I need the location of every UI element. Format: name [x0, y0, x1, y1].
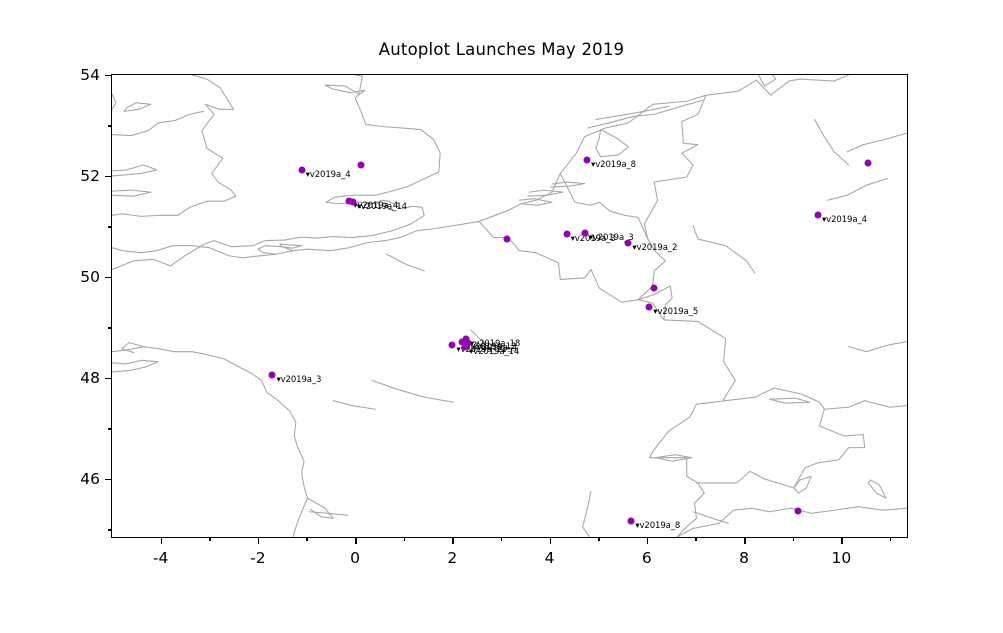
data-point-label: ▾v2019a_14: [357, 202, 407, 212]
x-axis-tick: [258, 537, 259, 544]
data-point-label: ▾v2019a_5: [653, 307, 698, 317]
y-axis-tick: [105, 75, 112, 76]
data-point[interactable]: [581, 229, 588, 236]
figure-canvas: Autoplot Launches May 2019: [0, 0, 1003, 633]
x-axis-minor-tick: [501, 537, 502, 541]
y-axis-tick: [105, 176, 112, 177]
x-axis-tick: [161, 537, 162, 544]
map-clip: ▾v2019a_4▾v2019a_4▾v2019a_14▾v2019a_8▾v2…: [112, 75, 907, 537]
x-axis-tick-label: 10: [831, 549, 851, 567]
plot-axes: ▾v2019a_4▾v2019a_4▾v2019a_14▾v2019a_8▾v2…: [111, 74, 908, 538]
x-axis-minor-tick: [695, 537, 696, 541]
data-point[interactable]: [462, 343, 469, 350]
x-axis-tick-label: 4: [545, 549, 555, 567]
x-axis-minor-tick: [598, 537, 599, 541]
x-axis-minor-tick: [793, 537, 794, 541]
y-axis-tick-label: 46: [80, 470, 100, 488]
data-point[interactable]: [563, 231, 570, 238]
data-point[interactable]: [651, 285, 658, 292]
x-axis-tick: [744, 537, 745, 544]
x-axis-tick-label: 8: [739, 549, 749, 567]
data-point-label: ▾v2019a_4: [306, 170, 351, 180]
y-axis-tick: [105, 479, 112, 480]
y-axis-minor-tick: [108, 428, 112, 429]
data-point[interactable]: [269, 372, 276, 379]
data-point-label: ▾v2019a_14: [469, 347, 519, 357]
data-point[interactable]: [865, 160, 872, 167]
y-axis-tick-label: 54: [80, 66, 100, 84]
x-axis-tick-label: -4: [153, 549, 168, 567]
data-point[interactable]: [358, 162, 365, 169]
data-point-label: ▾v2019a_3: [276, 375, 321, 385]
data-point[interactable]: [625, 239, 632, 246]
data-point[interactable]: [349, 199, 356, 206]
map-geometry: [112, 75, 907, 537]
x-axis-minor-tick: [209, 537, 210, 541]
data-point[interactable]: [584, 157, 591, 164]
x-axis-tick-label: 6: [642, 549, 652, 567]
x-axis-tick: [355, 537, 356, 544]
y-axis-tick-label: 48: [80, 369, 100, 387]
x-axis-tick: [452, 537, 453, 544]
y-axis-tick: [105, 378, 112, 379]
y-axis-minor-tick: [108, 327, 112, 328]
data-point-label: ▾v2019a_8: [591, 160, 636, 170]
data-point[interactable]: [628, 518, 635, 525]
data-point[interactable]: [298, 166, 305, 173]
data-point[interactable]: [794, 507, 801, 514]
data-point-label: ▾v2019a_2: [632, 243, 677, 253]
data-point-label: ▾v2019a_8: [635, 521, 680, 531]
data-point-label: ▾v2019a_4: [822, 215, 867, 225]
x-axis-tick-label: -2: [250, 549, 265, 567]
data-point[interactable]: [646, 304, 653, 311]
x-axis-tick-label: 2: [447, 549, 457, 567]
x-axis-tick: [647, 537, 648, 544]
y-axis-minor-tick: [108, 125, 112, 126]
data-point[interactable]: [449, 341, 456, 348]
y-axis-tick-label: 52: [80, 167, 100, 185]
y-axis-minor-tick: [108, 529, 112, 530]
x-axis-minor-tick: [306, 537, 307, 541]
x-axis-tick: [550, 537, 551, 544]
data-point[interactable]: [503, 236, 510, 243]
x-axis-tick: [841, 537, 842, 544]
page-title: Autoplot Launches May 2019: [0, 40, 1003, 59]
x-axis-tick-label: 0: [350, 549, 360, 567]
y-axis-tick: [105, 277, 112, 278]
x-axis-minor-tick: [890, 537, 891, 541]
y-axis-minor-tick: [108, 226, 112, 227]
data-point[interactable]: [815, 211, 822, 218]
y-axis-tick-label: 50: [80, 268, 100, 286]
x-axis-minor-tick: [404, 537, 405, 541]
